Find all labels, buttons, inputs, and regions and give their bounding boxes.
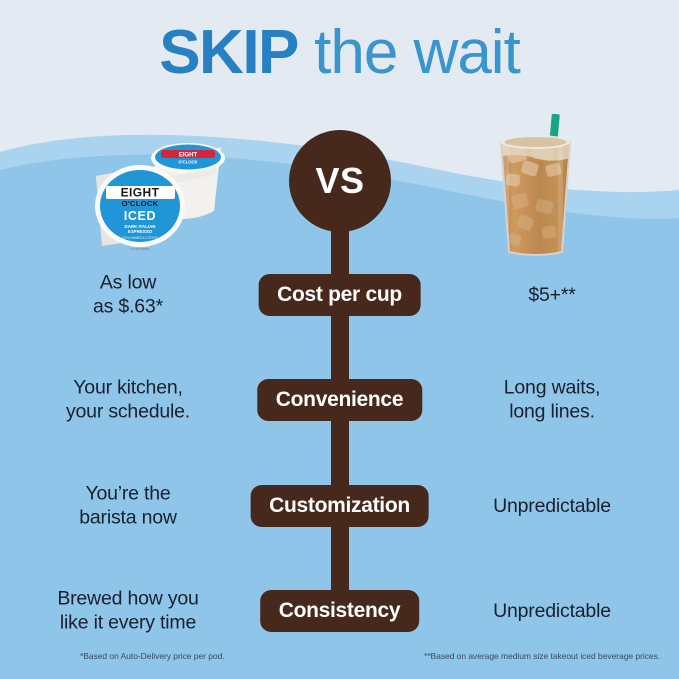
row-right-text: Unpredictable — [432, 599, 672, 623]
comparison-table: As low as $.63* Cost per cup $5+** Your … — [0, 0, 679, 679]
row-left-text: Brewed how you like it every time — [8, 587, 248, 636]
row-right-text: Unpredictable — [432, 494, 672, 518]
row-left-text: You’re the barista now — [8, 482, 248, 531]
row-left-text: As low as $.63* — [8, 271, 248, 320]
category-badge-cost-per-cup: Cost per cup — [258, 274, 421, 316]
category-badge-convenience: Convenience — [257, 379, 422, 421]
vs-label: VS — [315, 160, 364, 202]
category-badge-consistency: Consistency — [260, 590, 420, 632]
row-right-text: Long waits, long lines. — [432, 376, 672, 425]
infographic-root: SKIP the wait EIGHT O'CLOCK EIGHT O'CLOC… — [0, 0, 679, 679]
category-badge-customization: Customization — [250, 485, 429, 527]
vs-badge: VS — [289, 130, 391, 232]
row-left-text: Your kitchen, your schedule. — [8, 376, 248, 425]
row-right-text: $5+** — [432, 283, 672, 307]
